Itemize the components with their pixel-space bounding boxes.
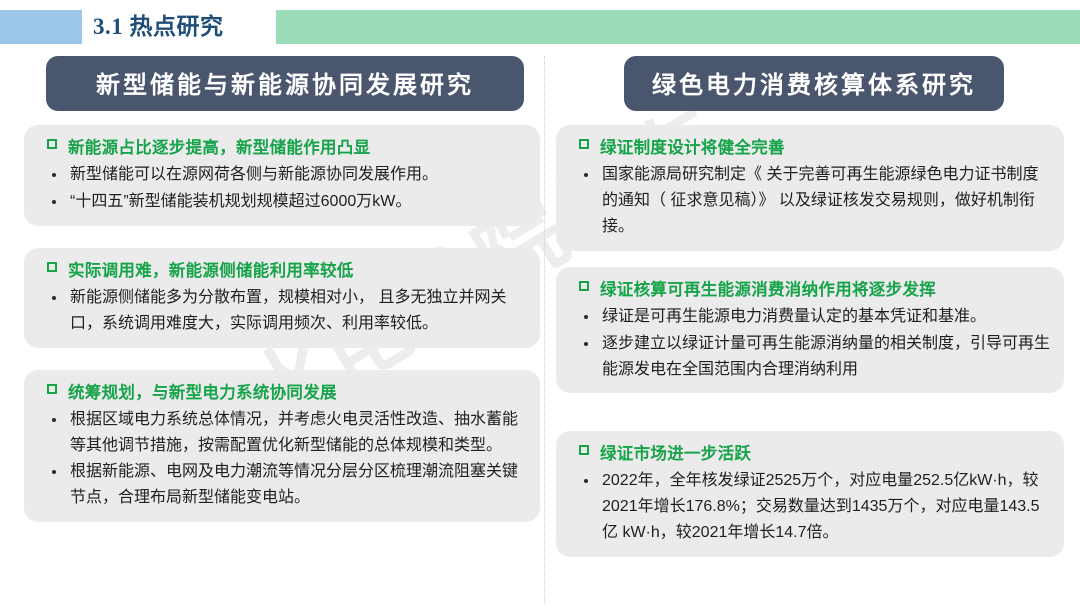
card-heading: 绿证市场进一步活跃 xyxy=(570,440,1050,464)
slide-header: 3.1 热点研究 xyxy=(0,0,1080,50)
card-bullet-list: 根据区域电力系统总体情况，并考虑火电灵活性改造、抽水蓄能等其他调节措施，按需配置… xyxy=(38,407,526,512)
card-heading-text: 绿证核算可再生能源消费消纳作用将逐步发挥 xyxy=(600,276,1050,300)
bullet-text: 新能源侧储能多为分散布置，规模相对小， 且多无独立并网关口，系统调用难度大，实际… xyxy=(70,285,526,337)
bullet-text: “十四五”新型储能装机规划规模超过6000万kW。 xyxy=(70,189,526,215)
card-heading-text: 绿证制度设计将健全完善 xyxy=(600,134,1050,158)
header-green-block xyxy=(276,10,1080,44)
card-bullet-list: 新型储能可以在源网荷各侧与新能源协同发展作用。 “十四五”新型储能装机规划规模超… xyxy=(38,162,526,215)
bullet-text: 国家能源局研究制定《 关于完善可再生能源绿色电力证书制度的通知（ 征求意见稿）》… xyxy=(602,162,1050,240)
card-heading: 统筹规划，与新型电力系统协同发展 xyxy=(38,379,526,403)
list-item: 2022年，全年核发绿证2525万个，对应电量252.5亿kW·h，较2021年… xyxy=(570,468,1050,546)
bullet-text: 根据区域电力系统总体情况，并考虑火电灵活性改造、抽水蓄能等其他调节措施，按需配置… xyxy=(70,407,526,459)
list-item: 新型储能可以在源网荷各侧与新能源协同发展作用。 xyxy=(38,162,526,188)
card-bullet-list: 新能源侧储能多为分散布置，规模相对小， 且多无独立并网关口，系统调用难度大，实际… xyxy=(38,285,526,337)
card-heading: 新能源占比逐步提高，新型储能作用凸显 xyxy=(38,134,526,158)
square-bullet-icon xyxy=(47,262,57,272)
card-bullet-list: 2022年，全年核发绿证2525万个，对应电量252.5亿kW·h，较2021年… xyxy=(570,468,1050,546)
list-item: 根据区域电力系统总体情况，并考虑火电灵活性改造、抽水蓄能等其他调节措施，按需配置… xyxy=(38,407,526,459)
square-bullet-icon xyxy=(47,139,57,149)
left-card-1: 新能源占比逐步提高，新型储能作用凸显 新型储能可以在源网荷各侧与新能源协同发展作… xyxy=(24,125,540,226)
dot-bullet-icon xyxy=(584,173,588,177)
card-heading-text: 统筹规划，与新型电力系统协同发展 xyxy=(68,379,526,403)
bullet-text: 绿证是可再生能源电力消费量认定的基本凭证和基准。 xyxy=(602,304,1050,330)
card-heading-text: 绿证市场进一步活跃 xyxy=(600,440,1050,464)
bullet-text: 根据新能源、电网及电力潮流等情况分层分区梳理潮流阻塞关键节点，合理布局新型储能变… xyxy=(70,459,526,511)
list-item: 新能源侧储能多为分散布置，规模相对小， 且多无独立并网关口，系统调用难度大，实际… xyxy=(38,285,526,337)
dot-bullet-icon xyxy=(584,479,588,483)
right-column: 绿色电力消费核算体系研究 绿证制度设计将健全完善 国家能源局研究制定《 关于完善… xyxy=(556,56,1064,557)
page-title: 3.1 热点研究 xyxy=(93,11,224,43)
list-item: 根据新能源、电网及电力潮流等情况分层分区梳理潮流阻塞关键节点，合理布局新型储能变… xyxy=(38,459,526,511)
dot-bullet-icon xyxy=(584,342,588,346)
left-card-3: 统筹规划，与新型电力系统协同发展 根据区域电力系统总体情况，并考虑火电灵活性改造… xyxy=(24,370,540,523)
column-divider xyxy=(544,56,545,604)
card-heading: 绿证核算可再生能源消费消纳作用将逐步发挥 xyxy=(570,276,1050,300)
card-heading-text: 实际调用难，新能源侧储能利用率较低 xyxy=(68,257,526,281)
bullet-text: 2022年，全年核发绿证2525万个，对应电量252.5亿kW·h，较2021年… xyxy=(602,468,1050,546)
square-bullet-icon xyxy=(579,281,589,291)
dot-bullet-icon xyxy=(52,418,56,422)
header-blue-block xyxy=(0,10,82,44)
square-bullet-icon xyxy=(579,445,589,455)
card-heading: 绿证制度设计将健全完善 xyxy=(570,134,1050,158)
list-item: “十四五”新型储能装机规划规模超过6000万kW。 xyxy=(38,189,526,215)
dot-bullet-icon xyxy=(584,315,588,319)
card-heading: 实际调用难，新能源侧储能利用率较低 xyxy=(38,257,526,281)
bullet-text: 新型储能可以在源网荷各侧与新能源协同发展作用。 xyxy=(70,162,526,188)
square-bullet-icon xyxy=(579,139,589,149)
right-card-2: 绿证核算可再生能源消费消纳作用将逐步发挥 绿证是可再生能源电力消费量认定的基本凭… xyxy=(556,267,1064,394)
list-item: 逐步建立以绿证计量可再生能源消纳量的相关制度，引导可再生能源发电在全国范围内合理… xyxy=(570,331,1050,383)
card-bullet-list: 绿证是可再生能源电力消费量认定的基本凭证和基准。 逐步建立以绿证计量可再生能源消… xyxy=(570,304,1050,383)
bullet-text: 逐步建立以绿证计量可再生能源消纳量的相关制度，引导可再生能源发电在全国范围内合理… xyxy=(602,331,1050,383)
dot-bullet-icon xyxy=(52,200,56,204)
dot-bullet-icon xyxy=(52,296,56,300)
right-section-title: 绿色电力消费核算体系研究 xyxy=(624,56,1004,111)
list-item: 绿证是可再生能源电力消费量认定的基本凭证和基准。 xyxy=(570,304,1050,330)
dot-bullet-icon xyxy=(52,470,56,474)
left-section-title: 新型储能与新能源协同发展研究 xyxy=(46,56,524,111)
dot-bullet-icon xyxy=(52,173,56,177)
left-column: 新型储能与新能源协同发展研究 新能源占比逐步提高，新型储能作用凸显 新型储能可以… xyxy=(24,56,540,522)
card-bullet-list: 国家能源局研究制定《 关于完善可再生能源绿色电力证书制度的通知（ 征求意见稿）》… xyxy=(570,162,1050,240)
square-bullet-icon xyxy=(47,384,57,394)
card-heading-text: 新能源占比逐步提高，新型储能作用凸显 xyxy=(68,134,526,158)
left-card-2: 实际调用难，新能源侧储能利用率较低 新能源侧储能多为分散布置，规模相对小， 且多… xyxy=(24,248,540,348)
list-item: 国家能源局研究制定《 关于完善可再生能源绿色电力证书制度的通知（ 征求意见稿）》… xyxy=(570,162,1050,240)
right-card-1: 绿证制度设计将健全完善 国家能源局研究制定《 关于完善可再生能源绿色电力证书制度… xyxy=(556,125,1064,251)
right-card-3: 绿证市场进一步活跃 2022年，全年核发绿证2525万个，对应电量252.5亿k… xyxy=(556,431,1064,557)
